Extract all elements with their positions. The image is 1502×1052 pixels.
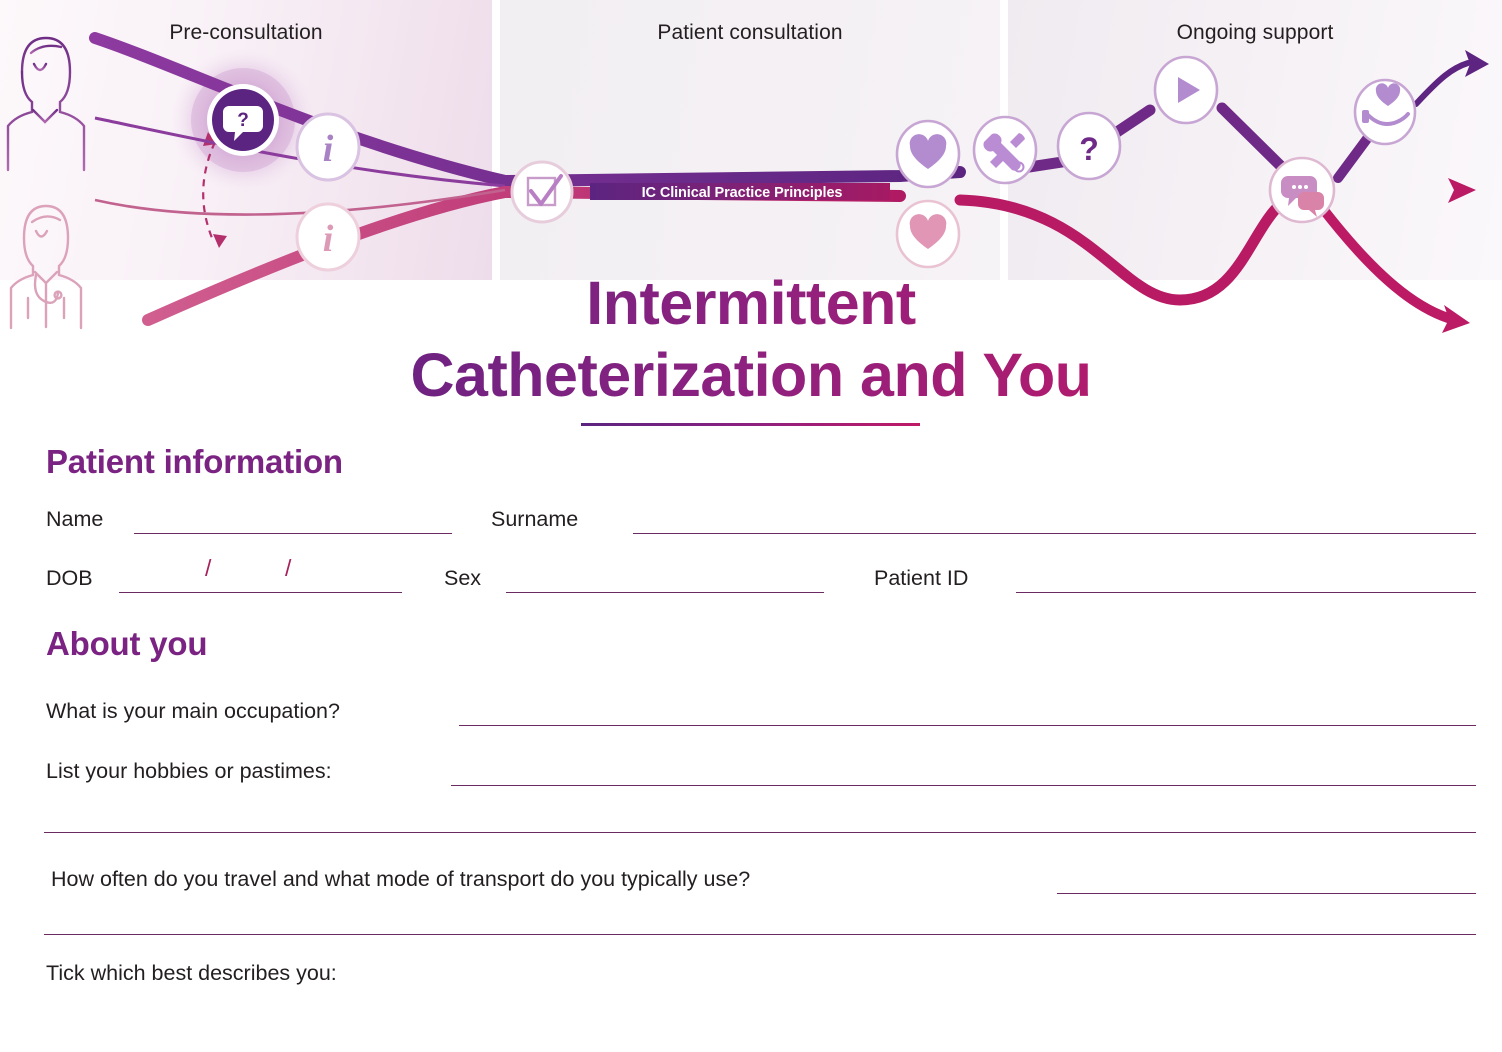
question-speech-bubble-icon: ? [207,84,279,156]
label-hobbies-question: List your hobbies or pastimes: [46,759,332,784]
info-icon-pink: i [297,204,359,270]
title-divider [581,423,920,426]
question-mark-icon: ? [1058,113,1120,179]
input-hobbies-line-2[interactable] [44,832,1476,833]
dob-separator-1: / [205,557,211,580]
input-name[interactable] [134,533,452,534]
page-title: Intermittent Catheterization and You [251,268,1251,412]
label-name: Name [46,507,103,532]
play-icon [1155,57,1217,123]
checkbox-tick-icon [512,162,572,222]
page-title-line1: Intermittent [251,268,1251,340]
label-sex: Sex [444,566,481,591]
dashed-arrow-head-down [213,234,227,248]
clinician-avatar [11,206,81,328]
section-heading-patient-information: Patient information [46,443,343,481]
heart-icon-pink [897,201,959,267]
page-title-line2: Catheterization and You [251,340,1251,412]
input-dob[interactable] [119,592,402,593]
label-dob: DOB [46,566,93,591]
chat-bubbles-icon [1270,158,1334,222]
tools-wrench-icon [974,117,1036,183]
dob-separator-2: / [285,557,291,580]
label-patient-id: Patient ID [874,566,968,591]
label-surname: Surname [491,507,578,532]
section-heading-about-you: About you [46,625,207,663]
label-travel-question: How often do you travel and what mode of… [51,867,750,892]
magenta-branch-down [1320,205,1448,318]
label-occupation-question: What is your main occupation? [46,699,340,724]
svg-text:?: ? [1079,131,1099,167]
input-patient-id[interactable] [1016,592,1476,593]
input-travel-line-1[interactable] [1057,893,1476,894]
patient-avatar [8,38,84,170]
input-surname[interactable] [633,533,1476,534]
info-icon-purple: i [297,114,359,180]
svg-text:i: i [323,128,334,170]
purple-exit-curve [1416,63,1468,104]
heart-icon-purple [897,121,959,187]
input-travel-line-2[interactable] [44,934,1476,935]
input-sex[interactable] [506,592,824,593]
svg-text:i: i [323,218,334,260]
label-tick-question: Tick which best describes you: [46,961,337,986]
input-hobbies-line-1[interactable] [451,785,1476,786]
svg-text:?: ? [237,110,249,131]
hand-heart-icon [1355,80,1415,144]
principles-label: IC Clinical Practice Principles [600,185,884,201]
input-occupation[interactable] [459,725,1476,726]
